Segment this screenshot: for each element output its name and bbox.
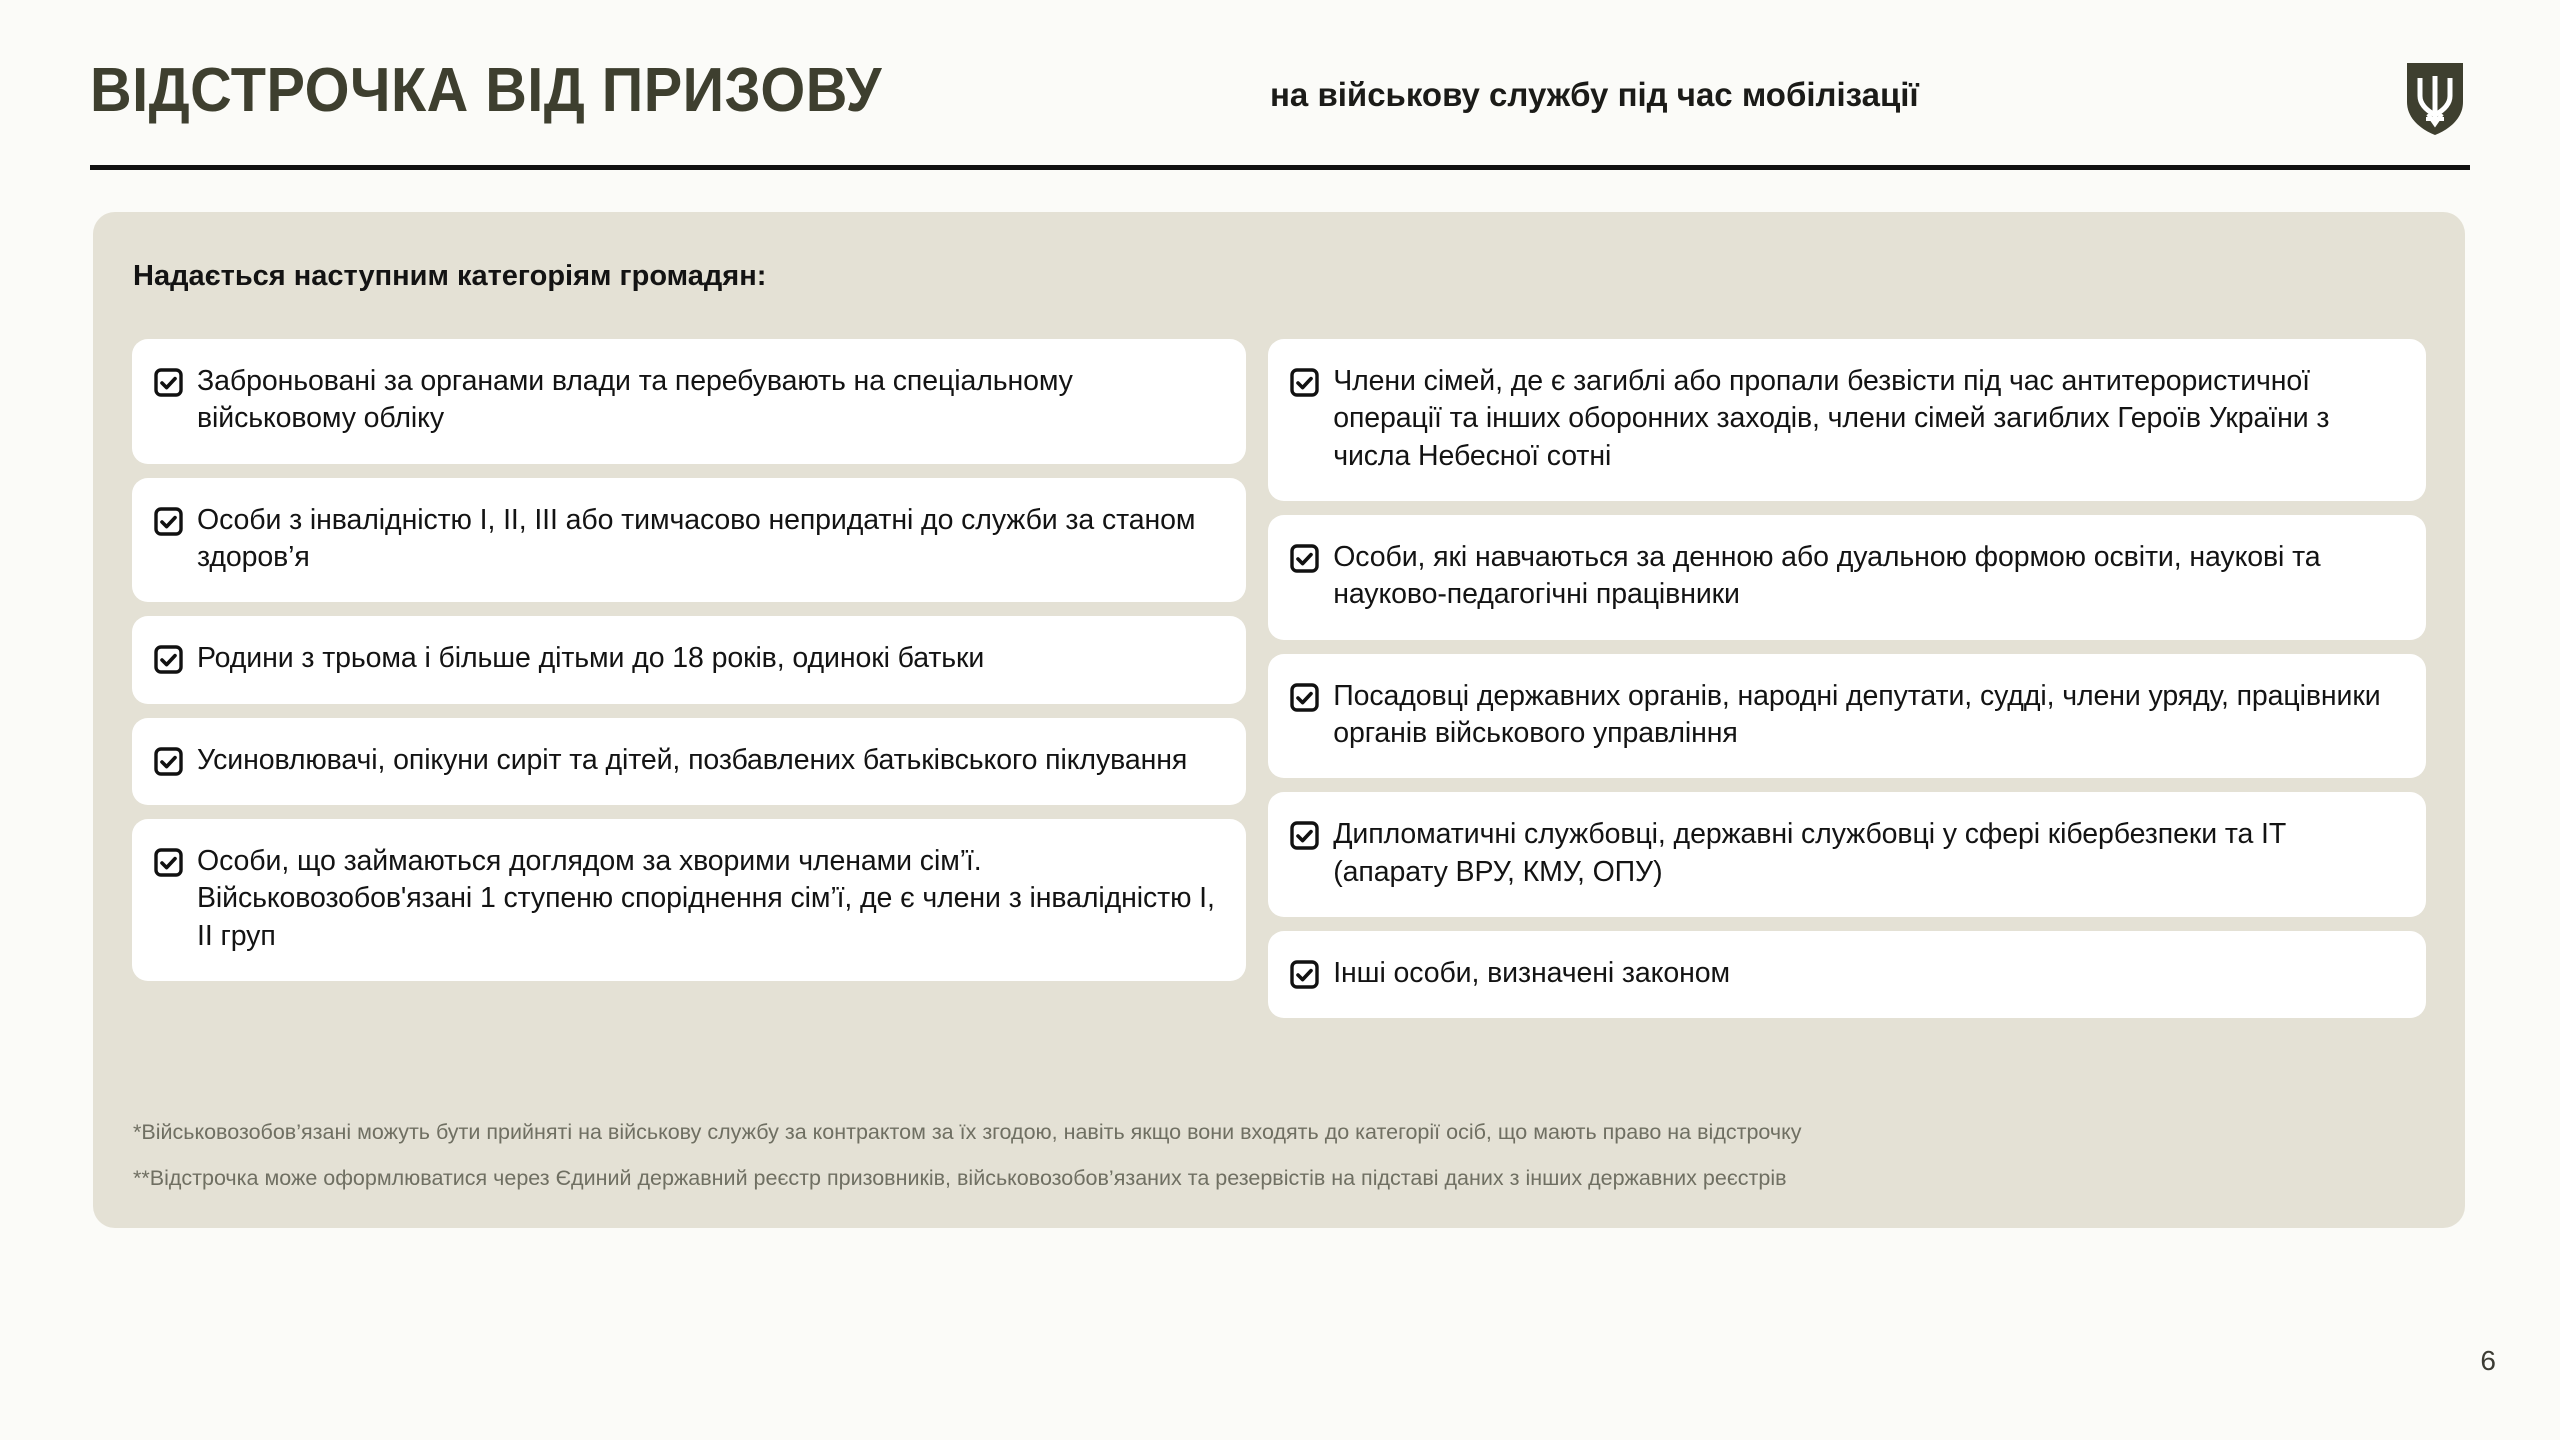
list-item-label: Усиновлювачі, опікуни сиріт та дітей, по… [183, 742, 1187, 779]
page-header: ВІДСТРОЧКА ВІД ПРИЗОВУ на військову служ… [0, 0, 2560, 180]
list-item[interactable]: Особи, які навчаються за денною або дуал… [1268, 515, 2426, 640]
checkbox-checked-icon [154, 848, 183, 877]
list-item-label: Особи, які навчаються за денною або дуал… [1319, 539, 2400, 614]
checkbox-checked-icon [1290, 960, 1319, 989]
footnote-double-asterisk: **Відстрочка може оформлюватися через Єд… [133, 1166, 2433, 1192]
list-item-label: Дипломатичні службовці, державні службов… [1319, 816, 2400, 891]
list-item-label: Особи з інвалідністю I, II, III або тимч… [183, 502, 1220, 577]
checkbox-checked-icon [154, 747, 183, 776]
checkbox-checked-icon [154, 507, 183, 536]
header-divider [90, 165, 2470, 170]
checkbox-checked-icon [1290, 683, 1319, 712]
list-item[interactable]: Члени сімей, де є загиблі або пропали бе… [1268, 339, 2426, 501]
checkbox-checked-icon [1290, 821, 1319, 850]
list-item-label: Посадовці державних органів, народні деп… [1319, 678, 2400, 753]
left-column: Заброньовані за органами влади та перебу… [132, 339, 1246, 1018]
categories-panel: Надається наступним категоріям громадян:… [93, 212, 2465, 1228]
right-column: Члени сімей, де є загиблі або пропали бе… [1268, 339, 2426, 1018]
list-item-label: Заброньовані за органами влади та перебу… [183, 363, 1220, 438]
checkbox-checked-icon [154, 368, 183, 397]
categories-columns: Заброньовані за органами влади та перебу… [132, 339, 2426, 1018]
checkbox-checked-icon [1290, 544, 1319, 573]
footnote-single-asterisk: *Військовозобов’язані можуть бути прийня… [133, 1120, 2433, 1146]
list-item[interactable]: Усиновлювачі, опікуни сиріт та дітей, по… [132, 718, 1246, 805]
page-number: 6 [2480, 1345, 2496, 1377]
page-subtitle: на військову службу під час мобілізації [1270, 76, 1919, 114]
list-item[interactable]: Родини з трьома і більше дітьми до 18 ро… [132, 616, 1246, 703]
panel-heading: Надається наступним категоріям громадян: [133, 260, 766, 293]
checkbox-checked-icon [154, 645, 183, 674]
shield-trident-icon [2406, 62, 2464, 136]
list-item[interactable]: Особи з інвалідністю I, II, III або тимч… [132, 478, 1246, 603]
list-item[interactable]: Інші особи, визначені законом [1268, 931, 2426, 1018]
list-item-label: Члени сімей, де є загиблі або пропали бе… [1319, 363, 2400, 475]
list-item-label: Інші особи, визначені законом [1319, 955, 1730, 992]
list-item[interactable]: Заброньовані за органами влади та перебу… [132, 339, 1246, 464]
list-item[interactable]: Посадовці державних органів, народні деп… [1268, 654, 2426, 779]
footnotes: *Військовозобов’язані можуть бути прийня… [133, 1120, 2433, 1192]
list-item-label: Родини з трьома і більше дітьми до 18 ро… [183, 640, 984, 677]
list-item[interactable]: Особи, що займаються доглядом за хворими… [132, 819, 1246, 981]
list-item[interactable]: Дипломатичні службовці, державні службов… [1268, 792, 2426, 917]
list-item-label: Особи, що займаються доглядом за хворими… [183, 843, 1220, 955]
checkbox-checked-icon [1290, 368, 1319, 397]
page-title: ВІДСТРОЧКА ВІД ПРИЗОВУ [90, 55, 882, 126]
